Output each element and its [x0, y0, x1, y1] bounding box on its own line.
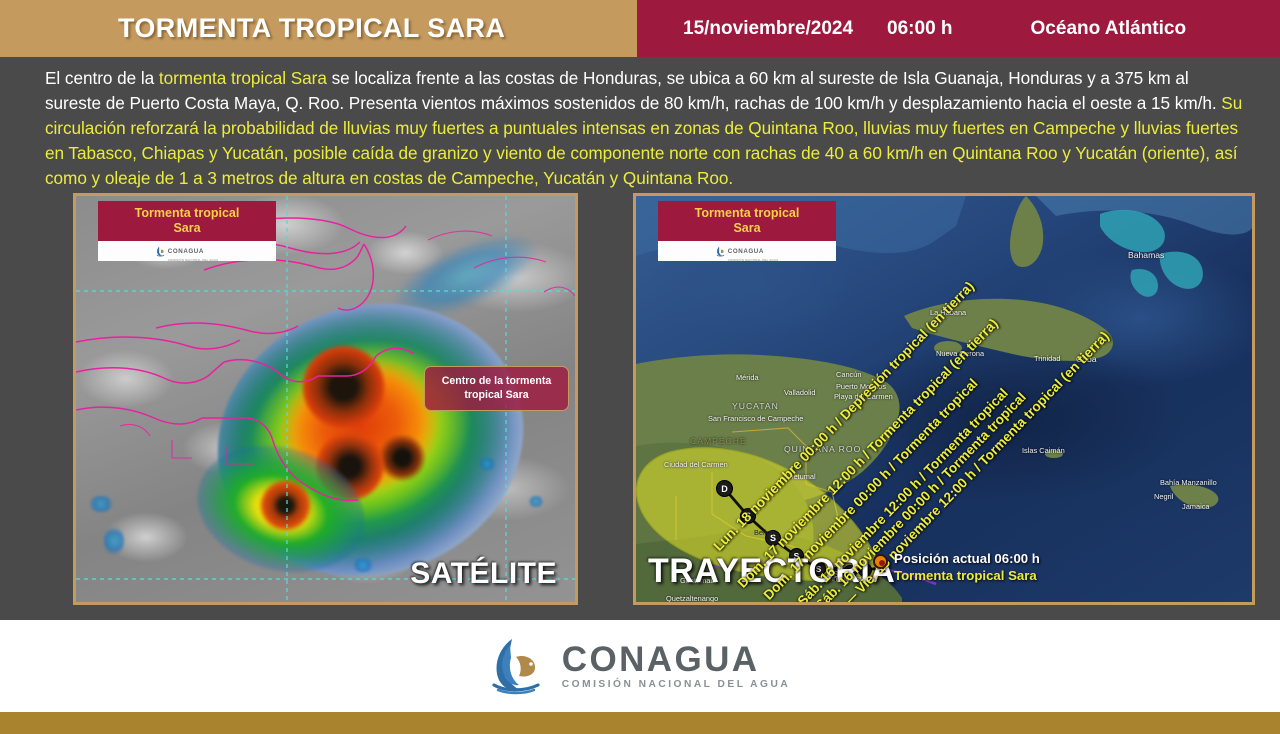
callout-line-2: tropical Sara [464, 389, 528, 401]
current-position-marker [873, 554, 888, 569]
map-label-negril: Negril [1154, 492, 1173, 501]
map-label-quetzaltenango: Quetzaltenango [666, 594, 718, 603]
ocean-basin: Océano Atlántico [1031, 18, 1187, 40]
satellite-panel[interactable]: Centro de la tormenta tropical Sara Torm… [73, 193, 578, 605]
map-label-yucatan: YUCATAN [732, 401, 779, 411]
conagua-logo: CONAGUA COMISIÓN NACIONAL DEL AGUA [490, 637, 790, 695]
header-meta-band: 15/noviembre/2024 06:00 h Océano Atlánti… [637, 0, 1280, 57]
map-label-islas-caiman: Islas Caimán [1022, 446, 1065, 455]
trajectory-panel[interactable]: S S S S S S S D Lun. 18 noviembre 00:00 … [633, 193, 1255, 605]
conagua-logo-icon [156, 246, 165, 257]
bulletin-text: El centro de la tormenta tropical Sara s… [45, 66, 1245, 191]
logo-name: CONAGUA [562, 642, 790, 678]
plaque-org-name: CONAGUA [168, 248, 204, 255]
footer-logo-band: CONAGUA COMISIÓN NACIONAL DEL AGUA [0, 620, 1280, 712]
bulletin-seg-1: El centro de la [45, 68, 159, 88]
traj-plaque-org-block: CONAGUA COMISIÓN NACIONAL DEL AGUA [728, 240, 778, 262]
map-label-belice: Belice [754, 528, 774, 537]
imagery-panels: Centro de la tormenta tropical Sara Torm… [0, 188, 1280, 620]
logo-subtitle: COMISIÓN NACIONAL DEL AGUA [562, 679, 790, 690]
current-position-legend: Posición actual 06:00 h Tormenta tropica… [894, 550, 1040, 584]
map-label-bahamas: Bahamas [1128, 250, 1164, 260]
map-label-bahia-manzanillo: Bahía Manzanillo [1160, 478, 1217, 487]
page-header: TORMENTA TROPICAL SARA 15/noviembre/2024… [0, 0, 1280, 57]
bulletin-time: 06:00 h [887, 18, 952, 40]
map-label-trinidad: Trinidad [1034, 354, 1060, 363]
map-label-jamaica: Jamaica [1182, 502, 1210, 511]
satellite-title-plaque: Tormenta tropical Sara CONAGUA COMISIÓN … [98, 201, 276, 261]
conagua-logo-icon [716, 246, 725, 257]
map-label-campeche-state: CAMPECHE [690, 436, 747, 446]
map-label-san-francisco-campeche: San Francisco de Campeche [708, 414, 803, 423]
legend-line-2: Tormenta tropical Sara [894, 567, 1040, 584]
plaque-org-subtitle: COMISIÓN NACIONAL DEL AGUA [168, 258, 218, 262]
page-title: TORMENTA TROPICAL SARA [118, 13, 505, 44]
bulletin-date: 15/noviembre/2024 [683, 18, 853, 40]
traj-plaque-line-2: Sara [733, 221, 760, 235]
plaque-org-block: CONAGUA COMISIÓN NACIONAL DEL AGUA [168, 240, 218, 262]
legend-line-1: Posición actual 06:00 h [894, 550, 1040, 567]
traj-plaque-logo-strip: CONAGUA COMISIÓN NACIONAL DEL AGUA [658, 241, 836, 261]
traj-plaque-org-name: CONAGUA [728, 248, 764, 255]
storm-center-callout: Centro de la tormenta tropical Sara [424, 366, 569, 411]
plaque-storm-title: Tormenta tropical Sara [98, 201, 276, 241]
trajectory-title-plaque: Tormenta tropical Sara CONAGUA COMISIÓN … [658, 201, 836, 261]
map-label-merida: Mérida [736, 373, 759, 382]
plaque-line-1: Tormenta tropical [135, 206, 240, 220]
traj-plaque-org-subtitle: COMISIÓN NACIONAL DEL AGUA [728, 258, 778, 262]
footer-gold-bar [0, 712, 1280, 734]
map-label-cancun: Cancún [836, 370, 861, 379]
header-title-band: TORMENTA TROPICAL SARA [0, 0, 637, 57]
satellite-caption: SATÉLITE [410, 557, 557, 591]
traj-plaque-line-1: Tormenta tropical [695, 206, 800, 220]
map-label-valladolid: Valladolid [784, 388, 816, 397]
bulletin-storm-name: tormenta tropical Sara [159, 68, 327, 88]
plaque-logo-strip: CONAGUA COMISIÓN NACIONAL DEL AGUA [98, 241, 276, 261]
plaque-line-2: Sara [173, 221, 200, 235]
map-label-ciudad-del-carmen: Ciudad del Carmen [664, 460, 728, 469]
callout-line-1: Centro de la tormenta [442, 375, 552, 387]
traj-plaque-storm-title: Tormenta tropical Sara [658, 201, 836, 241]
conagua-wordmark: CONAGUA COMISIÓN NACIONAL DEL AGUA [562, 642, 790, 690]
conagua-emblem-icon [490, 637, 546, 695]
